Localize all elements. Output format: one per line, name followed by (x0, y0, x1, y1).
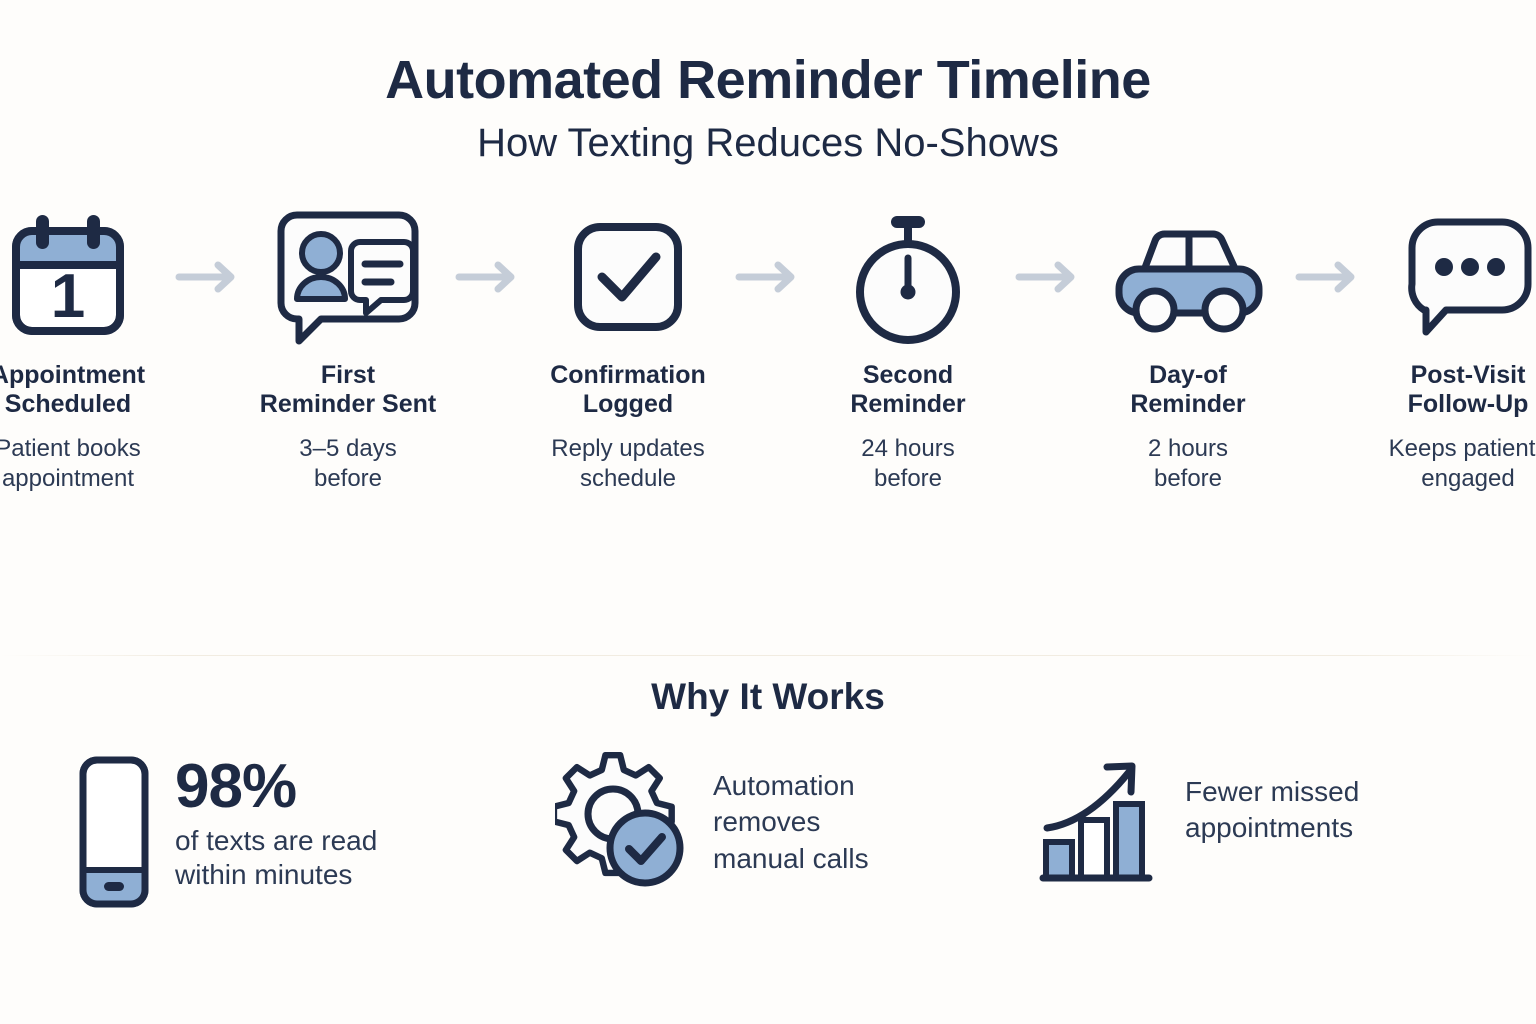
timeline-step-confirmation-logged: Confirmation Logged Reply updates schedu… (524, 207, 732, 494)
why-it-works-section: Why It Works 98% of texts are read withi… (0, 676, 1536, 912)
timeline: 1 Appointment Scheduled Patient books ap… (0, 207, 1536, 494)
calendar-icon: 1 (0, 207, 158, 347)
timeline-step-second-reminder: Second Reminder 24 hours before (804, 207, 1012, 494)
step-label: Second Reminder (850, 361, 965, 420)
timeline-step-appointment-scheduled: 1 Appointment Scheduled Patient books ap… (0, 207, 172, 494)
arrow-right-icon (1012, 207, 1084, 347)
checkmark-square-icon (538, 207, 718, 347)
step-description: Keeps patients engaged (1389, 434, 1536, 494)
benefit-text: 98% of texts are read within minutes (175, 752, 377, 892)
benefit-text: Fewer missed appointments (1185, 752, 1359, 847)
benefit-item: Fewer missed appointments (1023, 752, 1523, 882)
benefits-row: 98% of texts are read within minutes Aut… (0, 752, 1536, 912)
step-description: Reply updates schedule (551, 434, 704, 494)
stopwatch-icon (818, 207, 998, 347)
stat-number: 98% (175, 756, 377, 818)
why-it-works-title: Why It Works (0, 676, 1536, 718)
stat-caption: of texts are read within minutes (175, 824, 377, 892)
arrow-right-icon (172, 207, 244, 347)
page-subtitle: How Texting Reduces No-Shows (0, 121, 1536, 165)
car-icon (1098, 207, 1278, 347)
timeline-step-day-of-reminder: Day-of Reminder 2 hours before (1084, 207, 1292, 494)
timeline-step-first-reminder-sent: First Reminder Sent 3–5 days before (244, 207, 452, 494)
step-label: Post-Visit Follow-Up (1408, 361, 1529, 420)
step-description: 3–5 days before (299, 434, 396, 494)
benefit-caption: Automation removes manual calls (713, 768, 869, 877)
step-description: 2 hours before (1148, 434, 1228, 494)
step-label: Day-of Reminder (1130, 361, 1245, 420)
benefit-item: 98% of texts are read within minutes (13, 752, 533, 912)
svg-text:1: 1 (51, 262, 85, 331)
step-label: Appointment Scheduled (0, 361, 145, 420)
arrow-right-icon (732, 207, 804, 347)
arrow-right-icon (1292, 207, 1364, 347)
section-divider (0, 655, 1536, 656)
gear-check-icon (555, 752, 695, 892)
person-message-icon (258, 207, 438, 347)
step-label: Confirmation Logged (550, 361, 706, 420)
timeline-step-post-visit-follow-up: Post-Visit Follow-Up Keeps patients enga… (1364, 207, 1536, 494)
page-title: Automated Reminder Timeline (0, 52, 1536, 109)
infographic-page: Automated Reminder Timeline How Texting … (0, 0, 1536, 1024)
arrow-right-icon (452, 207, 524, 347)
benefit-text: Automation removes manual calls (713, 752, 869, 877)
chat-dots-icon (1378, 207, 1536, 347)
step-description: Patient books appointment (0, 434, 141, 494)
step-label: First Reminder Sent (260, 361, 436, 420)
bar-chart-growth-icon (1037, 752, 1167, 882)
header: Automated Reminder Timeline How Texting … (0, 0, 1536, 165)
benefit-caption: Fewer missed appointments (1185, 774, 1359, 847)
step-description: 24 hours before (861, 434, 954, 494)
smartphone-icon (71, 752, 157, 912)
benefit-item: Automation removes manual calls (533, 752, 1023, 892)
